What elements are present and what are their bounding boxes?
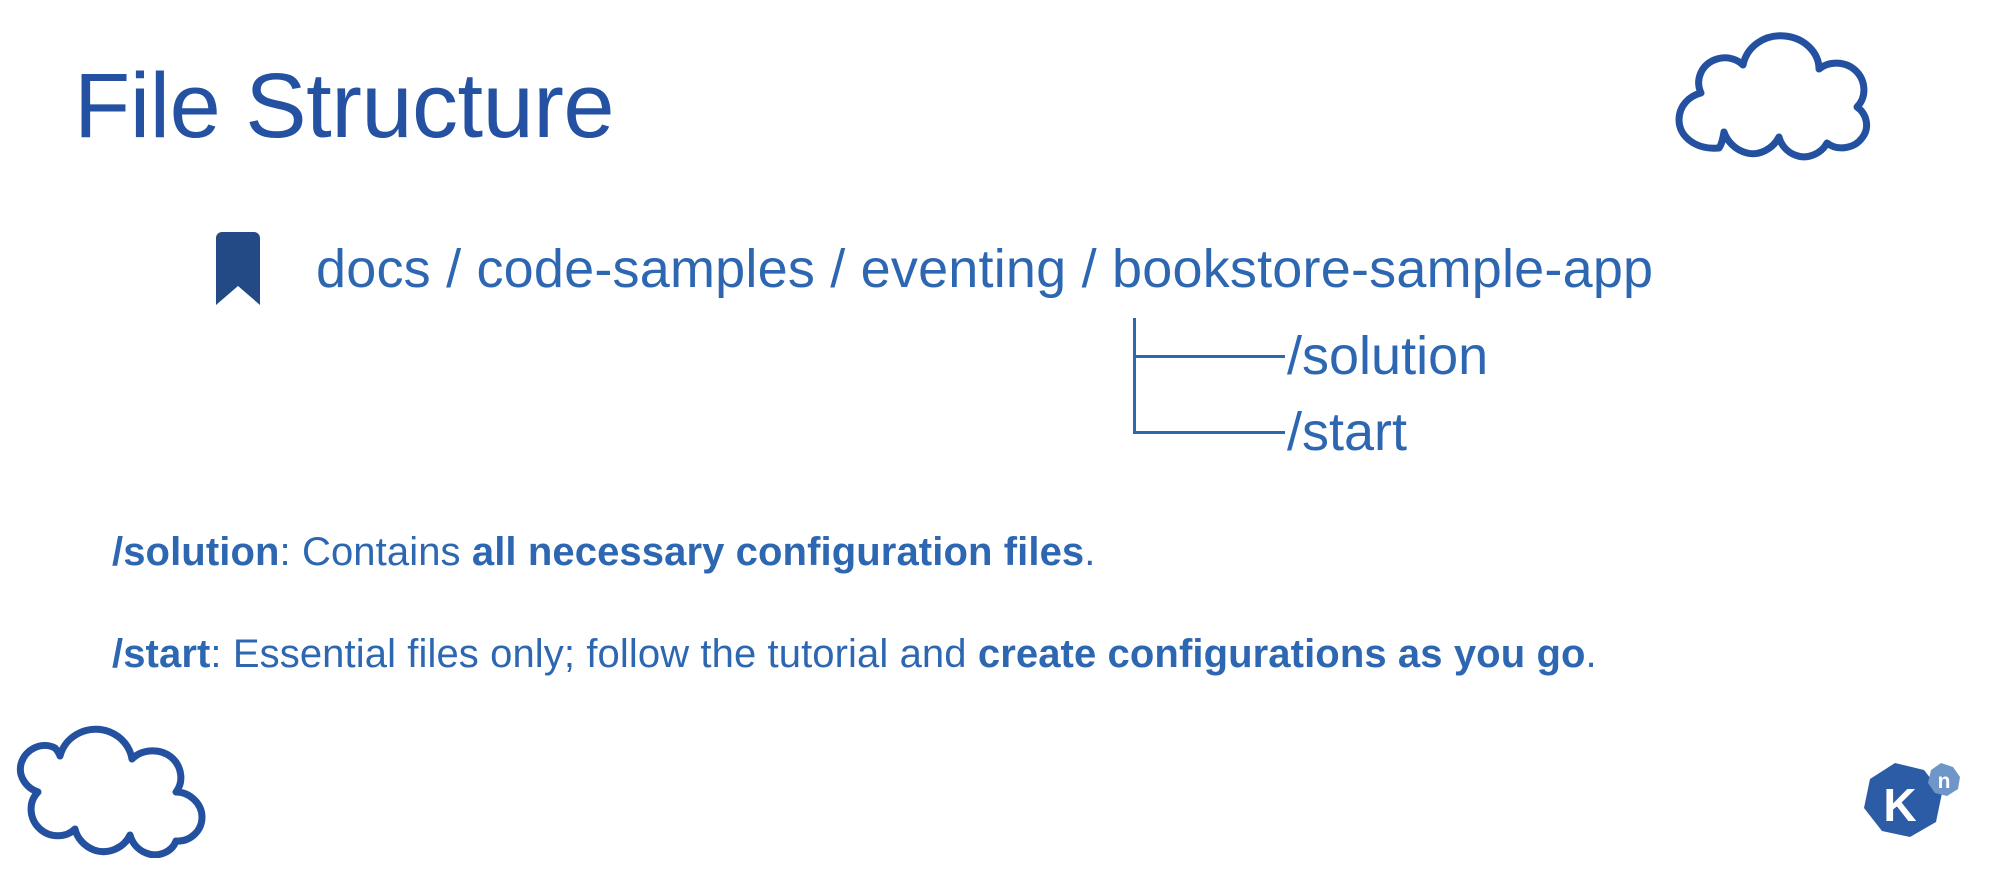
text-segment-2: create configurations as you go <box>978 632 1586 676</box>
tree-branch-end-icon <box>1133 394 1285 470</box>
body-paragraph: /start: Essential files only; follow the… <box>112 630 1597 678</box>
tree-row: /start <box>1133 394 1407 470</box>
text-segment-0: /start <box>112 632 210 676</box>
body-paragraph: /solution: Contains all necessary config… <box>112 528 1095 576</box>
text-segment-2: all necessary configuration files <box>472 530 1084 574</box>
text-segment-1: : Essential files only; follow the tutor… <box>210 632 977 676</box>
page-title: File Structure <box>74 58 614 155</box>
breadcrumb: docs / code-samples / eventing / booksto… <box>316 242 1653 296</box>
knative-logo: K n <box>1848 757 1966 861</box>
cloud-icon <box>8 716 218 858</box>
bookmark-icon <box>212 232 264 306</box>
tree-branch-icon <box>1133 318 1285 394</box>
tree-row: /solution <box>1133 318 1488 394</box>
text-segment-3: . <box>1586 632 1597 676</box>
file-path-row: docs / code-samples / eventing / booksto… <box>212 232 1653 306</box>
logo-letter-n: n <box>1938 770 1951 793</box>
cloud-icon <box>1661 28 1881 163</box>
tree-item-label: /solution <box>1287 329 1488 383</box>
text-segment-1: : Contains <box>280 530 472 574</box>
tree-item-label: /start <box>1287 405 1407 459</box>
logo-letter-k: K <box>1883 779 1916 831</box>
text-segment-0: /solution <box>112 530 280 574</box>
slide-canvas: File Structure docs / code-samples / eve… <box>0 0 1999 877</box>
text-segment-3: . <box>1084 530 1095 574</box>
